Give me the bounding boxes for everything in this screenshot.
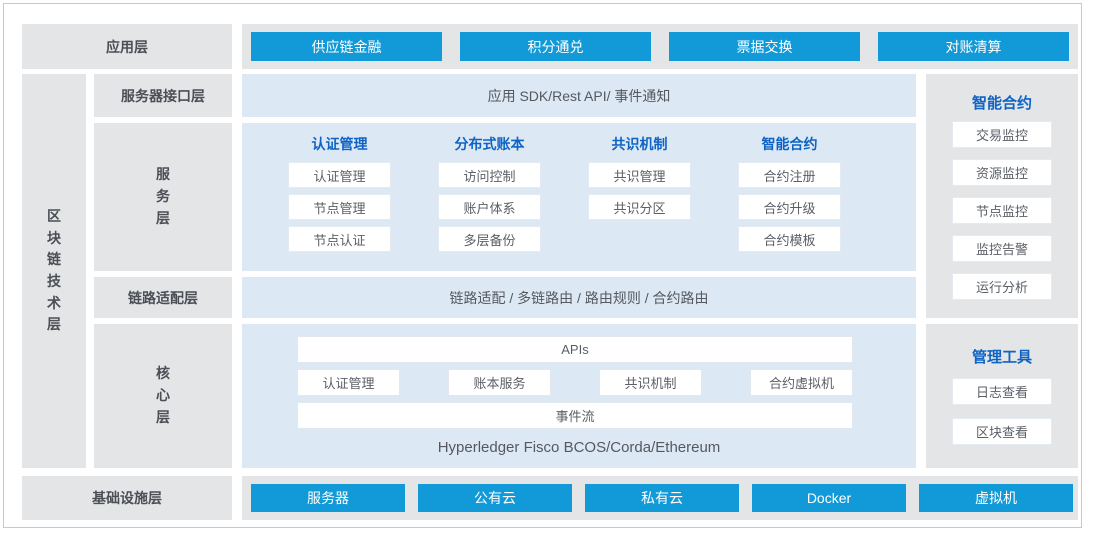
service-item-consensus-0[interactable]: 共识管理: [588, 162, 691, 188]
service-column-smart-contract: 智能合约 合约注册 合约升级 合约模板: [717, 134, 862, 258]
service-column-auth: 认证管理 认证管理 节点管理 节点认证: [267, 134, 412, 258]
core-module-contract-vm[interactable]: 合约虚拟机: [750, 369, 853, 396]
smart-contract-item-monitor-alert[interactable]: 监控告警: [952, 235, 1052, 262]
core-label-char-1: 心: [156, 385, 170, 407]
service-item-auth-0[interactable]: 认证管理: [288, 162, 391, 188]
service-item-auth-2[interactable]: 节点认证: [288, 226, 391, 252]
app-item-bill-exchange[interactable]: 票据交换: [669, 32, 860, 61]
tech-label-char-0: 区: [47, 206, 61, 228]
service-item-ledger-0[interactable]: 访问控制: [438, 162, 541, 188]
service-column-ledger: 分布式账本 访问控制 账户体系 多层备份: [417, 134, 562, 258]
service-column-consensus: 共识机制 共识管理 共识分区: [567, 134, 712, 258]
smart-contract-panel: 智能合约 交易监控 资源监控 节点监控 监控告警 运行分析: [926, 74, 1078, 318]
application-layer-band: 供应链金融 积分通兑 票据交换 对账清算: [242, 24, 1078, 69]
service-column-consensus-head: 共识机制: [567, 134, 712, 154]
core-module-ledger[interactable]: 账本服务: [448, 369, 551, 396]
tech-label-char-5: 层: [47, 314, 61, 336]
service-column-auth-head: 认证管理: [267, 134, 412, 154]
service-item-auth-1[interactable]: 节点管理: [288, 194, 391, 220]
server-interface-layer-label: 服务器接口层: [94, 74, 232, 117]
management-tools-item-block-viewer[interactable]: 区块查看: [952, 418, 1052, 445]
service-item-consensus-2: [588, 226, 691, 252]
service-layer-label: 服 务 层: [94, 123, 232, 271]
service-label-char-2: 层: [156, 208, 170, 230]
link-adaptation-layer-content: 链路适配 / 多链路由 / 路由规则 / 合约路由: [242, 277, 916, 318]
service-label-char-0: 服: [156, 164, 170, 186]
core-layer-content: APIs 认证管理 账本服务 共识机制 合约虚拟机 事件流 Hyperledge…: [242, 324, 916, 468]
app-item-reconciliation-settlement[interactable]: 对账清算: [878, 32, 1069, 61]
management-tools-item-log-viewer[interactable]: 日志查看: [952, 378, 1052, 405]
blockchain-tech-layer-label: 区 块 链 技 术 层: [22, 74, 86, 468]
core-layer-label: 核 心 层: [94, 324, 232, 468]
core-label-char-2: 层: [156, 407, 170, 429]
service-item-ledger-1[interactable]: 账户体系: [438, 194, 541, 220]
core-label-char-0: 核: [156, 363, 170, 385]
service-item-smart-contract-1[interactable]: 合约升级: [738, 194, 841, 220]
infra-item-server[interactable]: 服务器: [251, 484, 405, 512]
smart-contract-item-node-monitor[interactable]: 节点监控: [952, 197, 1052, 224]
smart-contract-item-runtime-analysis[interactable]: 运行分析: [952, 273, 1052, 300]
service-label-char-1: 务: [156, 186, 170, 208]
service-item-smart-contract-0[interactable]: 合约注册: [738, 162, 841, 188]
core-apis-box[interactable]: APIs: [297, 336, 853, 363]
service-item-smart-contract-2[interactable]: 合约模板: [738, 226, 841, 252]
core-event-flow-box[interactable]: 事件流: [297, 402, 853, 429]
infrastructure-layer-label: 基础设施层: [22, 476, 232, 520]
smart-contract-item-transaction-monitor[interactable]: 交易监控: [952, 121, 1052, 148]
infra-item-docker[interactable]: Docker: [752, 484, 906, 512]
management-tools-panel: 管理工具 日志查看 区块查看: [926, 324, 1078, 468]
tech-label-char-2: 链: [47, 249, 61, 271]
server-interface-layer-content: 应用 SDK/Rest API/ 事件通知: [242, 74, 916, 117]
service-item-ledger-2[interactable]: 多层备份: [438, 226, 541, 252]
infra-item-public-cloud[interactable]: 公有云: [418, 484, 572, 512]
smart-contract-panel-title: 智能合约: [926, 92, 1078, 113]
tech-label-char-1: 块: [47, 228, 61, 250]
service-column-ledger-head: 分布式账本: [417, 134, 562, 154]
tech-label-char-4: 术: [47, 293, 61, 315]
architecture-diagram: 应用层 供应链金融 积分通兑 票据交换 对账清算 区 块 链 技 术 层 服务器…: [3, 3, 1082, 528]
service-column-smart-contract-head: 智能合约: [717, 134, 862, 154]
core-module-consensus[interactable]: 共识机制: [599, 369, 702, 396]
infrastructure-layer-band: 服务器 公有云 私有云 Docker 虚拟机: [242, 476, 1078, 520]
core-engines-text: Hyperledger Fisco BCOS/Corda/Ethereum: [242, 434, 916, 460]
app-item-points-exchange[interactable]: 积分通兑: [460, 32, 651, 61]
service-layer-content: 认证管理 认证管理 节点管理 节点认证 分布式账本 访问控制 账户体系 多层备份…: [242, 123, 916, 271]
core-module-auth[interactable]: 认证管理: [297, 369, 400, 396]
application-layer-label: 应用层: [22, 24, 232, 69]
infra-item-virtual-machine[interactable]: 虚拟机: [919, 484, 1073, 512]
tech-label-char-3: 技: [47, 271, 61, 293]
infra-item-private-cloud[interactable]: 私有云: [585, 484, 739, 512]
smart-contract-item-resource-monitor[interactable]: 资源监控: [952, 159, 1052, 186]
service-item-consensus-1[interactable]: 共识分区: [588, 194, 691, 220]
link-adaptation-layer-label: 链路适配层: [94, 277, 232, 318]
app-item-supply-chain-finance[interactable]: 供应链金融: [251, 32, 442, 61]
management-tools-panel-title: 管理工具: [926, 346, 1078, 367]
